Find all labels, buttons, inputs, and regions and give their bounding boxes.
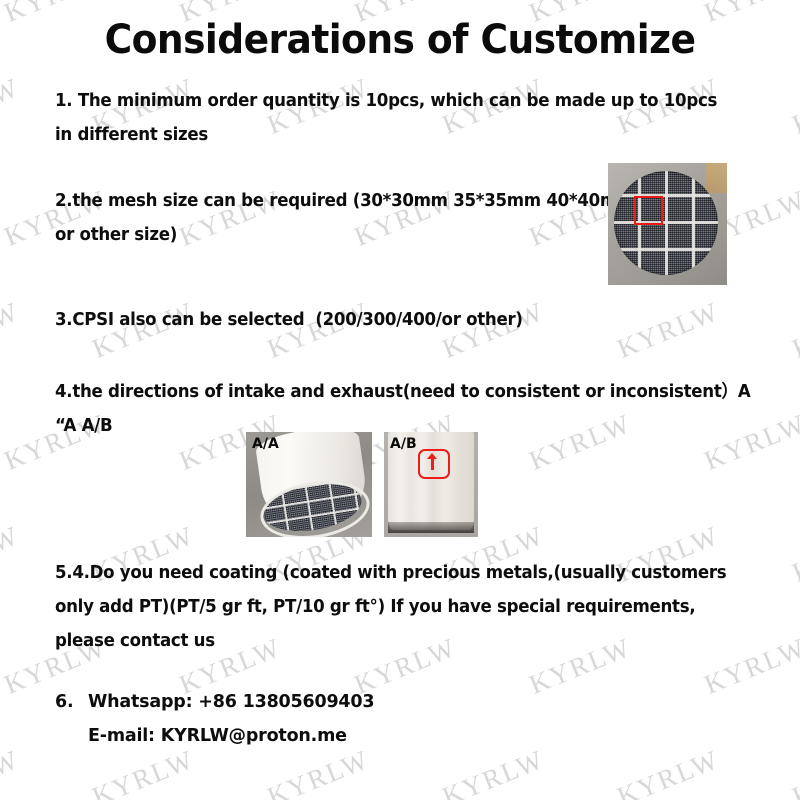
mesh-grid-overlay [614, 171, 718, 275]
cylinder-aa-photo: A/A [246, 432, 372, 537]
mesh-cell-highlight-box [634, 196, 663, 225]
content-layer: Considerations of Customize 1. The minim… [0, 0, 800, 800]
contact-email-row: E-mail: KYRLW@proton.me [55, 719, 374, 753]
ab-cylinder-bottom-shadow [388, 522, 474, 533]
ab-up-arrow-icon-head [427, 453, 437, 459]
consideration-item-1: 1. The minimum order quantity is 10pcs, … [55, 84, 720, 152]
page-title: Considerations of Customize [24, 17, 776, 63]
consideration-item-5: 5.4.Do you need coating (coated with pre… [55, 556, 758, 658]
consideration-item-2: 2.the mesh size can be required (30*30mm… [55, 184, 644, 252]
contact-list-number: 6. [55, 685, 88, 719]
honeycomb-mesh-disc-photo [608, 163, 727, 285]
ab-photo-label: A/B [390, 436, 417, 452]
contact-block: 6.Whatsapp: +86 13805609403 E-mail: KYRL… [55, 685, 374, 753]
product-specification-page: KYRLWKYRLWKYRLWKYRLWKYRLWKYRLWKYRLWKYRLW… [0, 0, 800, 800]
cylinder-ab-photo: A/B [384, 432, 478, 537]
email-label: E-mail: KYRLW@proton.me [88, 726, 347, 746]
consideration-item-3: 3.CPSI also can be selected (200/300/400… [55, 303, 720, 337]
aa-photo-label: A/A [252, 436, 279, 452]
mesh-photo-corner-detail [705, 163, 727, 193]
whatsapp-label: Whatsapp: +86 13805609403 [88, 692, 374, 712]
contact-whatsapp-row: 6.Whatsapp: +86 13805609403 [55, 685, 374, 719]
